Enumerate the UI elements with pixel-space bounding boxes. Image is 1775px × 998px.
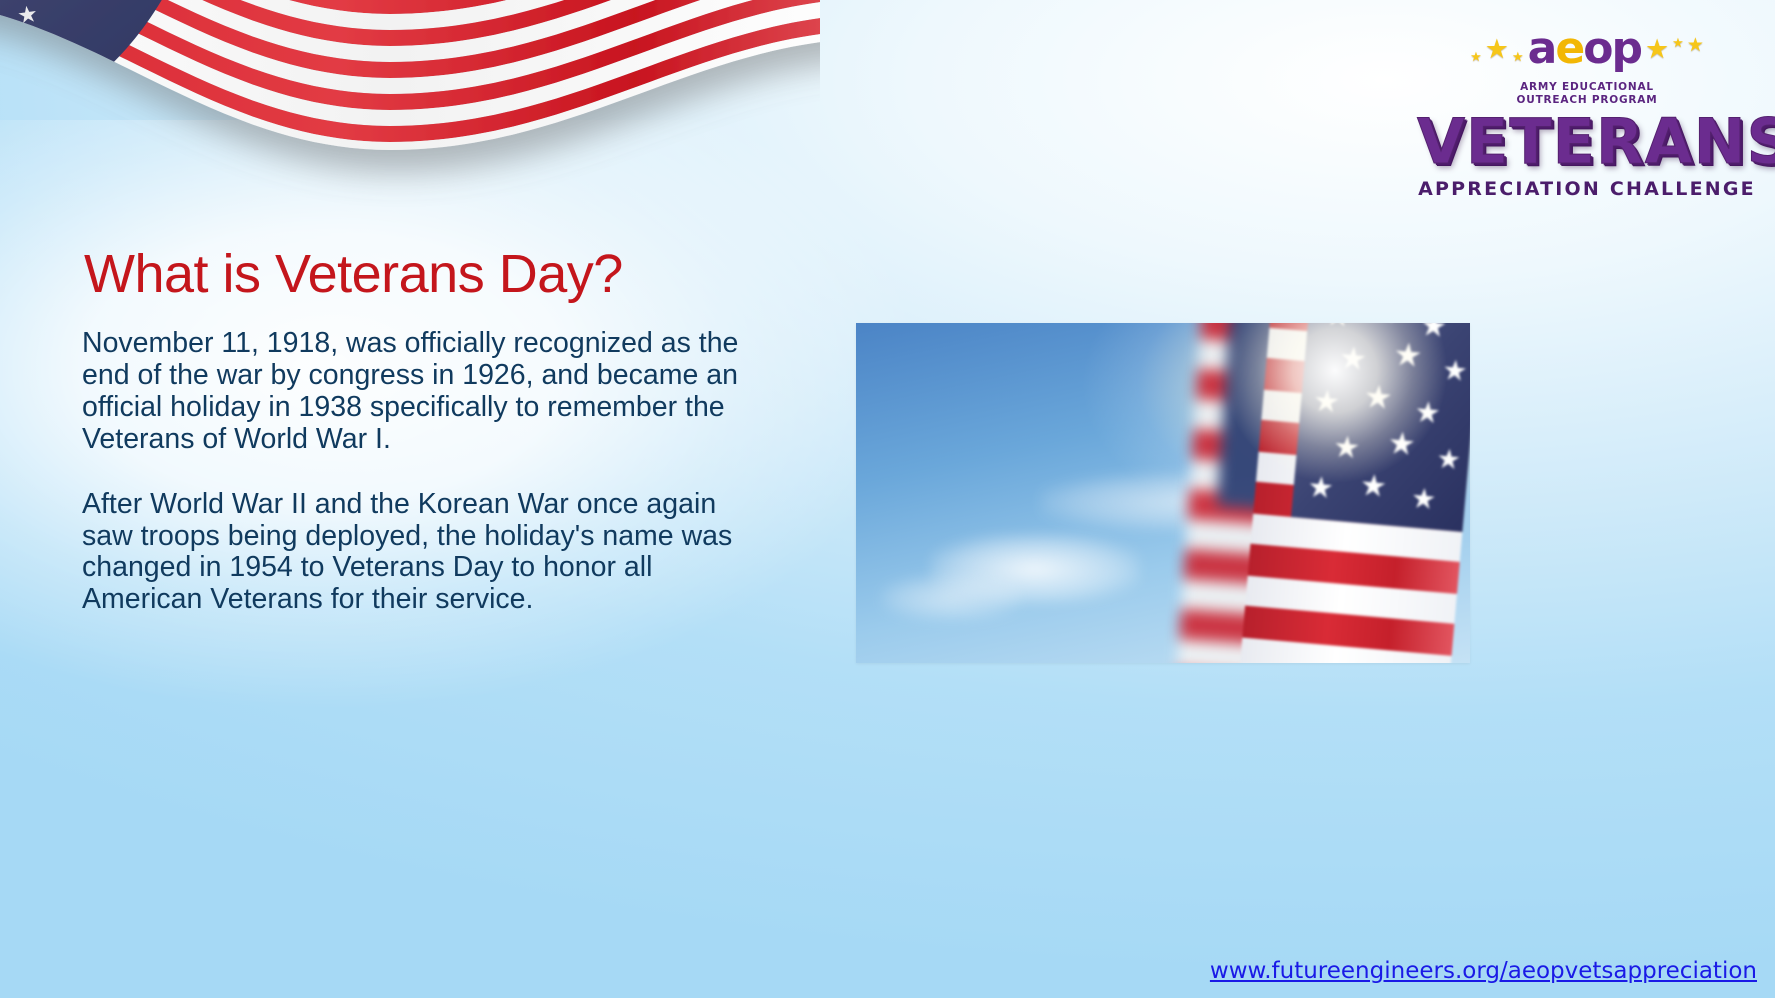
footer-url-link[interactable]: www.futureengineers.org/aeopvetsapprecia… bbox=[1210, 958, 1757, 984]
svg-text:★: ★ bbox=[1410, 481, 1438, 516]
paragraph-2: After World War II and the Korean War on… bbox=[82, 489, 772, 617]
stars-left-group: ★ ★ ★ bbox=[1470, 36, 1524, 63]
star-icon: ★ bbox=[1645, 36, 1669, 63]
star-icon: ★ bbox=[1512, 50, 1524, 63]
foreground-flag-icon: ★ ★ ★ ★ ★ ★ ★ ★ ★ ★ ★ ★ ★ ★ ★ bbox=[1238, 323, 1470, 663]
svg-text:★: ★ bbox=[1332, 429, 1362, 466]
star-icon: ★ bbox=[1672, 36, 1684, 49]
svg-text:★: ★ bbox=[1414, 394, 1443, 430]
svg-text:★: ★ bbox=[1359, 467, 1389, 504]
aeop-tagline-line-1: ARMY EDUCATIONAL bbox=[1417, 81, 1757, 94]
aeop-letter-p: p bbox=[1611, 23, 1641, 74]
slide-canvas: ★ ★ ★ ★ ★ ★ ★ ★ ★ ★ ★ ★ bbox=[0, 0, 1775, 998]
aeop-letter-e: e bbox=[1555, 23, 1583, 74]
star-icon: ★ bbox=[1485, 36, 1509, 63]
svg-text:★: ★ bbox=[1362, 376, 1394, 416]
svg-text:★: ★ bbox=[1441, 353, 1469, 388]
star-icon: ★ bbox=[1687, 36, 1704, 55]
appreciation-challenge-subtitle: APPRECIATION CHALLENGE bbox=[1417, 180, 1757, 199]
aeop-wordmark-row: ★ ★ ★ aeop ★ ★ ★ bbox=[1417, 18, 1757, 80]
body-copy: November 11, 1918, was officially recogn… bbox=[82, 328, 772, 616]
page-title: What is Veterans Day? bbox=[84, 243, 623, 305]
aeop-letter-o: o bbox=[1583, 23, 1611, 74]
aeop-wordmark: aeop bbox=[1528, 27, 1641, 71]
aeop-tagline: ARMY EDUCATIONAL OUTREACH PROGRAM bbox=[1417, 81, 1757, 107]
aeop-letter-a: a bbox=[1528, 23, 1556, 74]
paragraph-1: November 11, 1918, was officially recogn… bbox=[82, 328, 772, 456]
stars-right-group: ★ ★ ★ bbox=[1645, 36, 1704, 63]
svg-text:★: ★ bbox=[1307, 469, 1336, 505]
svg-text:★: ★ bbox=[1312, 383, 1342, 420]
svg-text:★: ★ bbox=[0, 52, 15, 80]
svg-text:★: ★ bbox=[1436, 443, 1463, 476]
veterans-title: VETERANS bbox=[1417, 111, 1757, 173]
photo-cloud bbox=[881, 575, 1021, 621]
svg-text:★: ★ bbox=[1323, 323, 1353, 334]
svg-text:★: ★ bbox=[1392, 334, 1424, 374]
star-icon: ★ bbox=[1470, 50, 1482, 63]
aeop-veterans-logo: ★ ★ ★ aeop ★ ★ ★ ARMY EDUCATIONAL OUTREA… bbox=[1417, 18, 1757, 199]
svg-text:★: ★ bbox=[1387, 425, 1418, 463]
flag-photo: ★ ★ ★ ★ ★ ★ ★ ★ ★ ★ ★ ★ ★ ★ ★ bbox=[856, 323, 1470, 663]
svg-text:★: ★ bbox=[16, 1, 40, 30]
svg-text:★: ★ bbox=[1338, 340, 1369, 378]
